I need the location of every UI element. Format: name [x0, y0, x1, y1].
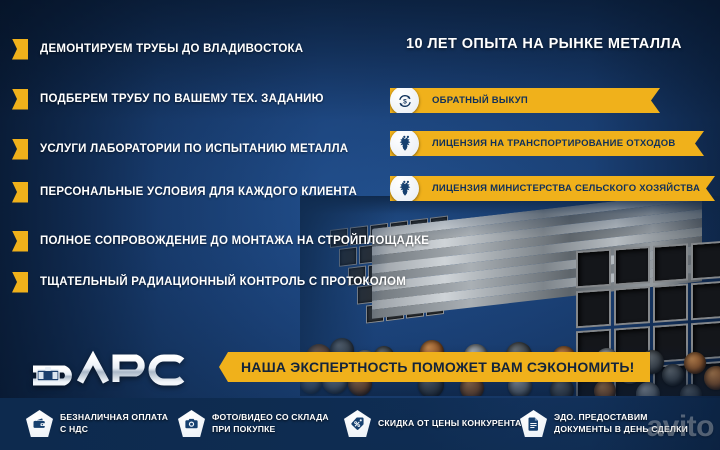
- feature-item: ПЕРСОНАЛЬНЫЕ УСЛОВИЯ ДЛЯ КАЖДОГО КЛИЕНТА: [12, 181, 357, 203]
- certificate-badge[interactable]: ЛИЦЕНЗИЯ НА ТРАНСПОРТИРОВАНИЕ ОТХОДОВ: [390, 131, 704, 156]
- benefit-text: ФОТО/ВИДЕО СО СКЛАДА ПРИ ПОКУПКЕ: [212, 412, 329, 435]
- feature-item-label: ПОЛНОЕ СОПРОВОЖДЕНИЕ ДО МОНТАЖА НА СТРОЙ…: [40, 235, 429, 247]
- flag-marker-icon: [12, 39, 28, 60]
- certificate-badge-label: ЛИЦЕНЗИЯ МИНИСТЕРСТВА СЕЛЬСКОГО ХОЗЯЙСТВ…: [432, 183, 700, 194]
- buyback-circular-arrows-icon: $: [390, 86, 419, 115]
- grey-bundle: [372, 196, 702, 321]
- benefit-line-1: БЕЗНАЛИЧНАЯ ОПЛАТА: [60, 412, 168, 424]
- flag-marker-icon: [12, 272, 28, 293]
- bottom-benefits-bar: БЕЗНАЛИЧНАЯ ОПЛАТА С НДС ФОТО/ВИДЕО СО С…: [0, 398, 720, 450]
- certificate-badge[interactable]: ЛИЦЕНЗИЯ МИНИСТЕРСТВА СЕЛЬСКОГО ХОЗЯЙСТВ…: [390, 176, 715, 201]
- company-logo[interactable]: [24, 349, 192, 389]
- benefit-text: СКИДКА ОТ ЦЕНЫ КОНКУРЕНТА: [378, 418, 521, 430]
- flag-marker-icon: [12, 182, 28, 203]
- expertise-banner: НАША ЭКСПЕРТНОСТЬ ПОМОЖЕТ ВАМ СЭКОНОМИТЬ…: [219, 352, 650, 382]
- camera-icon: [178, 410, 205, 437]
- double-headed-eagle-icon: [390, 174, 419, 203]
- wallet-card-icon: [32, 416, 47, 431]
- feature-item: ДЕМОНТИРУЕМ ТРУБЫ ДО ВЛАДИВОСТОКА: [12, 38, 303, 60]
- pipe-end: [662, 364, 684, 386]
- feature-item-label: ТЩАТЕЛЬНЫЙ РАДИАЦИОННЫЙ КОНТРОЛЬ С ПРОТО…: [40, 276, 406, 288]
- flag-marker-icon: [12, 139, 28, 160]
- pipe-end: [684, 352, 706, 374]
- benefit-line-2: ПРИ ПОКУПКЕ: [212, 424, 329, 436]
- wallet-card-icon: [26, 410, 53, 437]
- double-headed-eagle-icon: [396, 180, 414, 198]
- expertise-banner-label: НАША ЭКСПЕРТНОСТЬ ПОМОЖЕТ ВАМ СЭКОНОМИТЬ…: [241, 359, 634, 375]
- feature-item-label: ДЕМОНТИРУЕМ ТРУБЫ ДО ВЛАДИВОСТОКА: [40, 43, 303, 55]
- camera-icon: [184, 416, 199, 431]
- feature-item-label: ПОДБЕРЕМ ТРУБУ ПО ВАШЕМУ ТЕХ. ЗАДАНИЮ: [40, 93, 324, 105]
- certificate-badge-label: ЛИЦЕНЗИЯ НА ТРАНСПОРТИРОВАНИЕ ОТХОДОВ: [432, 138, 676, 149]
- benefit-text: ЭДО. ПРЕДОСТАВИМ ДОКУМЕНТЫ В ДЕНЬ СДЕЛКИ: [554, 412, 688, 435]
- benefit-line-2: С НДС: [60, 424, 168, 436]
- benefit-line-1: ЭДО. ПРЕДОСТАВИМ: [554, 412, 688, 424]
- benefit-text: БЕЗНАЛИЧНАЯ ОПЛАТА С НДС: [60, 412, 168, 435]
- price-tag-percent-icon: [344, 410, 371, 437]
- flag-marker-icon: [12, 231, 28, 252]
- feature-item-label: УСЛУГИ ЛАБОРАТОРИИ ПО ИСПЫТАНИЮ МЕТАЛЛА: [40, 143, 348, 155]
- benefit-line-1: СКИДКА ОТ ЦЕНЫ КОНКУРЕНТА: [378, 418, 521, 430]
- price-tag-percent-icon: [350, 416, 365, 431]
- feature-item: ПОДБЕРЕМ ТРУБУ ПО ВАШЕМУ ТЕХ. ЗАДАНИЮ: [12, 88, 324, 110]
- certificate-badge[interactable]: $ ОБРАТНЫЙ ВЫКУП: [390, 88, 660, 113]
- benefit-item: БЕЗНАЛИЧНАЯ ОПЛАТА С НДС: [26, 410, 168, 437]
- buyback-circular-arrows-icon: $: [397, 93, 413, 109]
- feature-item: ТЩАТЕЛЬНЫЙ РАДИАЦИОННЫЙ КОНТРОЛЬ С ПРОТО…: [12, 271, 406, 293]
- benefit-item: ЭДО. ПРЕДОСТАВИМ ДОКУМЕНТЫ В ДЕНЬ СДЕЛКИ: [520, 410, 688, 437]
- pipe-end: [636, 382, 660, 396]
- feature-item-label: ПЕРСОНАЛЬНЫЕ УСЛОВИЯ ДЛЯ КАЖДОГО КЛИЕНТА: [40, 186, 357, 198]
- document-icon: [526, 416, 541, 431]
- double-headed-eagle-icon: [396, 135, 414, 153]
- pipe-end: [680, 384, 702, 396]
- pipe-end: [594, 380, 616, 396]
- page-title: 10 ЛЕТ ОПЫТА НА РЫНКЕ МЕТАЛЛА: [406, 36, 682, 52]
- benefit-item: ФОТО/ВИДЕО СО СКЛАДА ПРИ ПОКУПКЕ: [178, 410, 329, 437]
- benefit-line-1: ФОТО/ВИДЕО СО СКЛАДА: [212, 412, 329, 424]
- double-headed-eagle-icon: [390, 129, 419, 158]
- document-icon: [520, 410, 547, 437]
- pipe-end: [704, 366, 720, 390]
- feature-item: УСЛУГИ ЛАБОРАТОРИИ ПО ИСПЫТАНИЮ МЕТАЛЛА: [12, 138, 348, 160]
- benefit-line-2: ДОКУМЕНТЫ В ДЕНЬ СДЕЛКИ: [554, 424, 688, 436]
- feature-item: ПОЛНОЕ СОПРОВОЖДЕНИЕ ДО МОНТАЖА НА СТРОЙ…: [12, 230, 429, 252]
- promo-banner: ДЕМОНТИРУЕМ ТРУБЫ ДО ВЛАДИВОСТОКА ПОДБЕР…: [0, 0, 720, 450]
- certificate-badge-label: ОБРАТНЫЙ ВЫКУП: [432, 95, 528, 106]
- benefit-item: СКИДКА ОТ ЦЕНЫ КОНКУРЕНТА: [344, 410, 521, 437]
- svg-text:$: $: [403, 98, 407, 105]
- flag-marker-icon: [12, 89, 28, 110]
